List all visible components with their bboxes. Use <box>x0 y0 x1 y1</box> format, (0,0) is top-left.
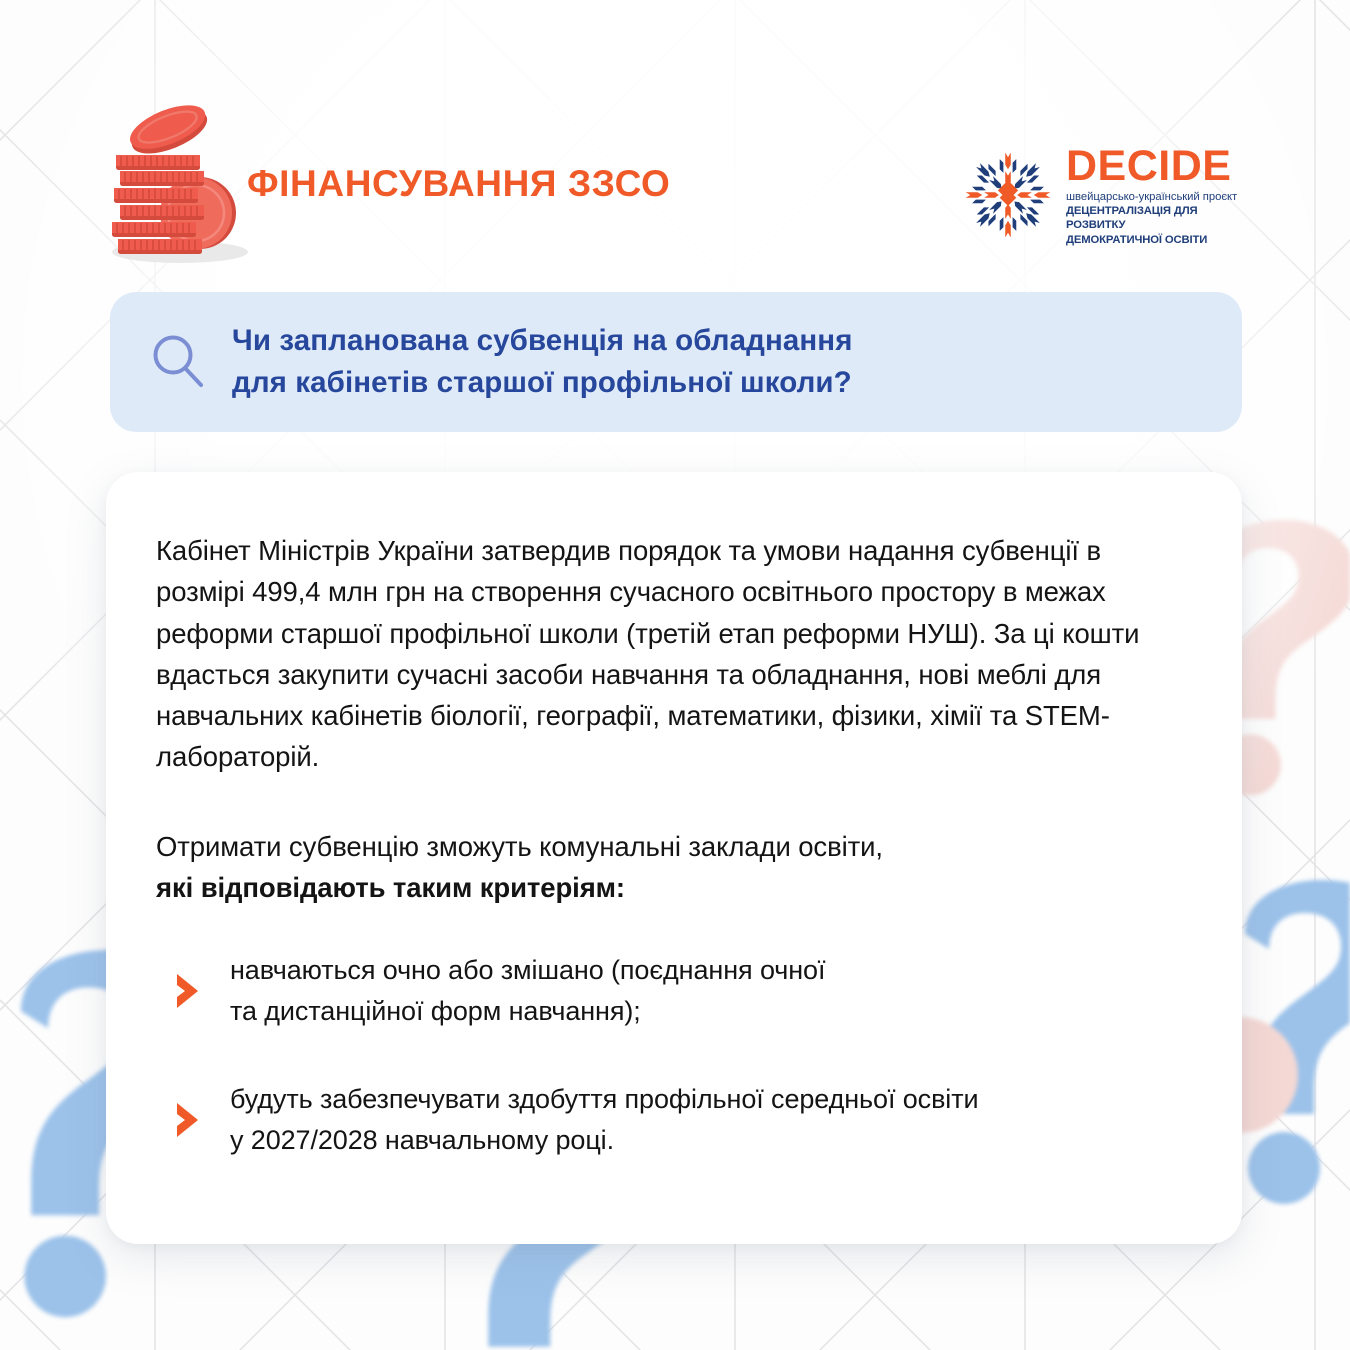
question-text: Чи запланована субвенція на обладнання д… <box>232 320 853 404</box>
list-item-text: будуть забезпечувати здобуття профільної… <box>230 1079 978 1162</box>
bullet-2-line-1: будуть забезпечувати здобуття профільної… <box>230 1079 978 1120</box>
criteria-intro-bold: які відповідають таким критеріям: <box>156 867 1186 908</box>
coins-stack-icon <box>96 100 256 265</box>
list-item: навчаються очно або змішано (поєднання о… <box>156 950 1186 1033</box>
bullet-1-line-2: та дистанційної форм навчання); <box>230 991 825 1032</box>
question-line-1: Чи запланована субвенція на обладнання <box>232 320 853 362</box>
decide-ornament-icon <box>962 149 1054 241</box>
decide-subtitle-line2: ДЕЦЕНТРАЛІЗАЦІЯ ДЛЯ РОЗВИТКУ <box>1066 204 1248 232</box>
decide-logo-text: DECIDE швейцарсько-український проєкт ДЕ… <box>1066 143 1248 246</box>
bullet-1-line-1: навчаються очно або змішано (поєднання о… <box>230 950 825 991</box>
chevron-right-icon <box>174 1100 204 1140</box>
answer-paragraph-1: Кабінет Міністрів України затвердив поря… <box>156 530 1186 778</box>
bullet-2-line-2: у 2027/2028 навчальному році. <box>230 1120 978 1161</box>
criteria-intro-line: Отримати субвенцію зможуть комунальні за… <box>156 826 1186 867</box>
decide-logo: DECIDE швейцарсько-український проєкт ДЕ… <box>962 145 1248 245</box>
blue-question-mark-right <box>1245 880 1350 1204</box>
question-banner: Чи запланована субвенція на обладнання д… <box>110 292 1242 432</box>
criteria-intro: Отримати субвенцію зможуть комунальні за… <box>156 826 1186 909</box>
decide-wordmark: DECIDE <box>1066 145 1248 187</box>
decide-subtitle-line3: ДЕМОКРАТИЧНОЇ ОСВІТИ <box>1066 233 1248 247</box>
page-title: ФІНАНСУВАННЯ ЗЗСО <box>247 163 670 205</box>
decide-subtitle-line1: швейцарсько-український проєкт <box>1066 191 1248 205</box>
infographic-canvas: ФІНАНСУВАННЯ ЗЗСО <box>0 0 1350 1350</box>
chevron-right-icon <box>174 971 204 1011</box>
list-item-text: навчаються очно або змішано (поєднання о… <box>230 950 825 1033</box>
list-item: будуть забезпечувати здобуття профільної… <box>156 1079 1186 1162</box>
answer-card: Кабінет Міністрів України затвердив поря… <box>106 472 1242 1244</box>
question-line-2: для кабінетів старшої профільної школи? <box>232 362 853 404</box>
page-header: ФІНАНСУВАННЯ ЗЗСО <box>0 0 1350 288</box>
criteria-list: навчаються очно або змішано (поєднання о… <box>156 950 1186 1161</box>
search-icon <box>148 331 210 393</box>
